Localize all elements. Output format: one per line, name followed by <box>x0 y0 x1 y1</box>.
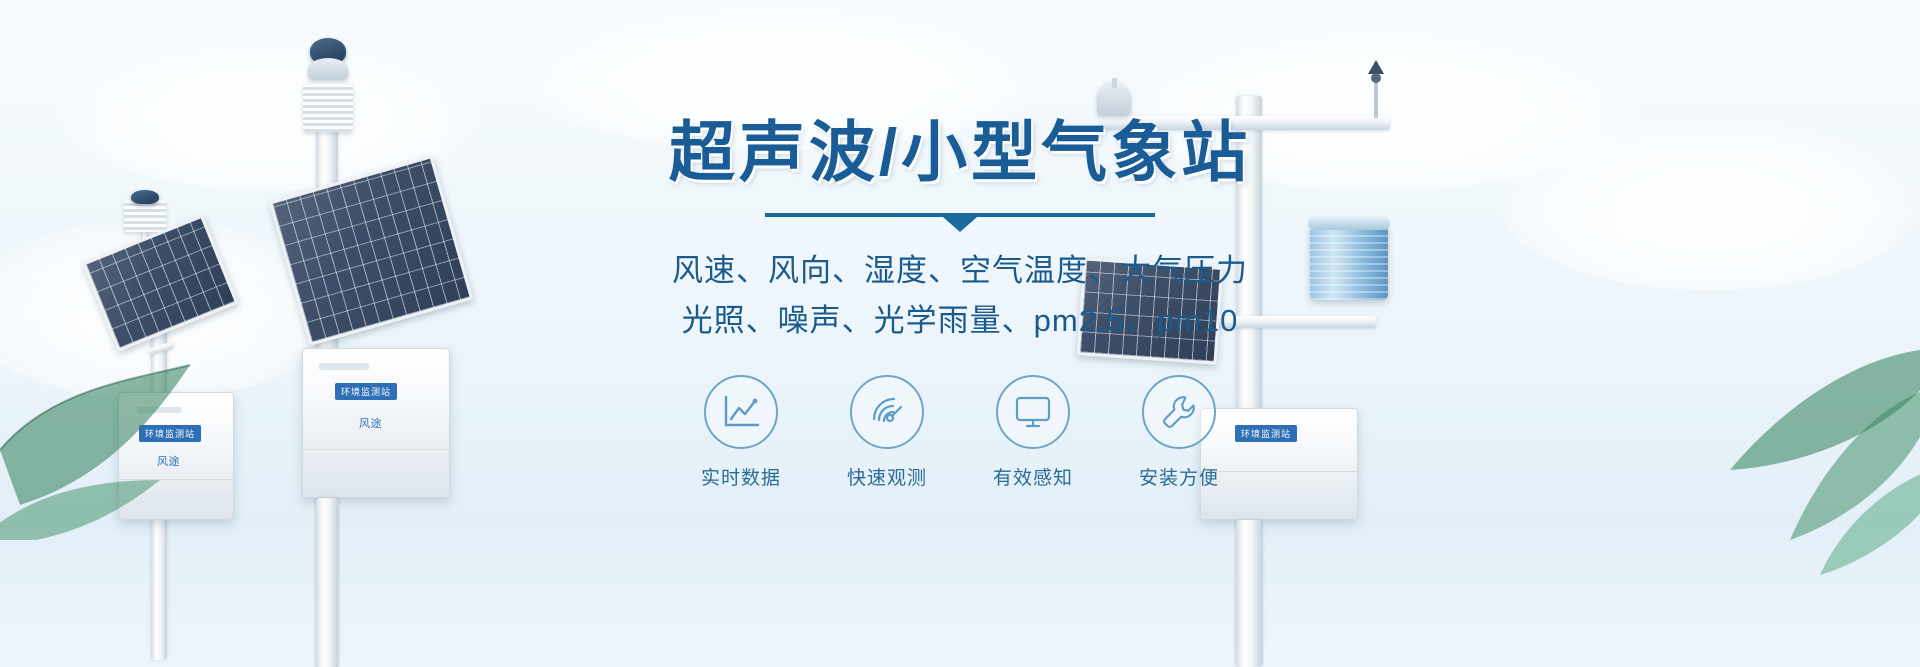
feature-icon-circle <box>704 375 778 449</box>
center-tall-station: 环境监测站 风途 <box>250 0 510 667</box>
cabinet-label: 环境监测站 <box>139 425 201 442</box>
leaf-decor-right <box>1670 290 1920 580</box>
cabinet-seam <box>303 449 451 450</box>
chart-line-icon <box>722 395 760 429</box>
solar-panel <box>82 214 238 352</box>
feature-item-easy-install[interactable]: 安装方便 <box>1124 375 1234 490</box>
feature-item-effective-sensing[interactable]: 有效感知 <box>978 375 1088 490</box>
hero-banner: 环境监测站 风途 环境监测站 风途 <box>0 0 1920 667</box>
feature-list: 实时数据 快速观测 <box>650 375 1270 490</box>
wrench-icon <box>1160 393 1198 431</box>
feature-label: 快速观测 <box>832 463 942 490</box>
page-title: 超声波/小型气象站 <box>650 118 1270 187</box>
feature-item-realtime-data[interactable]: 实时数据 <box>686 375 796 490</box>
subtitle-line-1: 风速、风向、湿度、空气温度、大气压力 <box>650 247 1270 295</box>
sensor-stem <box>1112 78 1117 88</box>
feature-label: 安装方便 <box>1124 463 1234 490</box>
monitor-screen-icon <box>1014 395 1052 429</box>
radar-signal-icon <box>868 393 906 431</box>
cabinet-label: 环境监测站 <box>335 383 397 400</box>
title-divider <box>765 213 1155 231</box>
station-base-pole <box>1236 520 1262 667</box>
ultrasonic-head <box>308 58 348 80</box>
hero-content: 超声波/小型气象站 风速、风向、湿度、空气温度、大气压力 光照、噪声、光学雨量、… <box>650 118 1270 490</box>
brand-logo-left: 风途 <box>157 453 180 469</box>
subtitle-line-2: 光照、噪声、光学雨量、pm2.5、pm10 <box>650 297 1270 345</box>
divider-triangle-icon <box>943 217 977 232</box>
feature-label: 有效感知 <box>978 463 1088 490</box>
rain-gauge-rim <box>1308 216 1390 230</box>
wind-vane-icon <box>1362 58 1390 118</box>
brand-logo-center: 风途 <box>359 415 382 431</box>
cabinet-vent <box>319 363 369 370</box>
radiation-shield-sensor <box>303 84 353 132</box>
feature-icon-circle <box>1142 375 1216 449</box>
equipment-cabinet: 环境监测站 风途 <box>302 348 450 498</box>
feature-label: 实时数据 <box>686 463 796 490</box>
optical-rain-gauge <box>1310 222 1388 300</box>
sensor-dome <box>131 190 159 204</box>
wind-vane-sensor <box>1362 58 1390 118</box>
station-base-pole <box>316 498 338 667</box>
cabinet-vent <box>137 407 181 413</box>
feature-item-fast-observation[interactable]: 快速观测 <box>832 375 942 490</box>
feature-icon-circle <box>996 375 1070 449</box>
equipment-cabinet: 环境监测站 风途 <box>118 392 234 520</box>
solar-panel <box>269 155 474 346</box>
feature-icon-circle <box>850 375 924 449</box>
cloud-decor <box>1500 120 1920 290</box>
cabinet-seam <box>119 479 235 480</box>
radiation-shield-sensor <box>124 200 166 232</box>
